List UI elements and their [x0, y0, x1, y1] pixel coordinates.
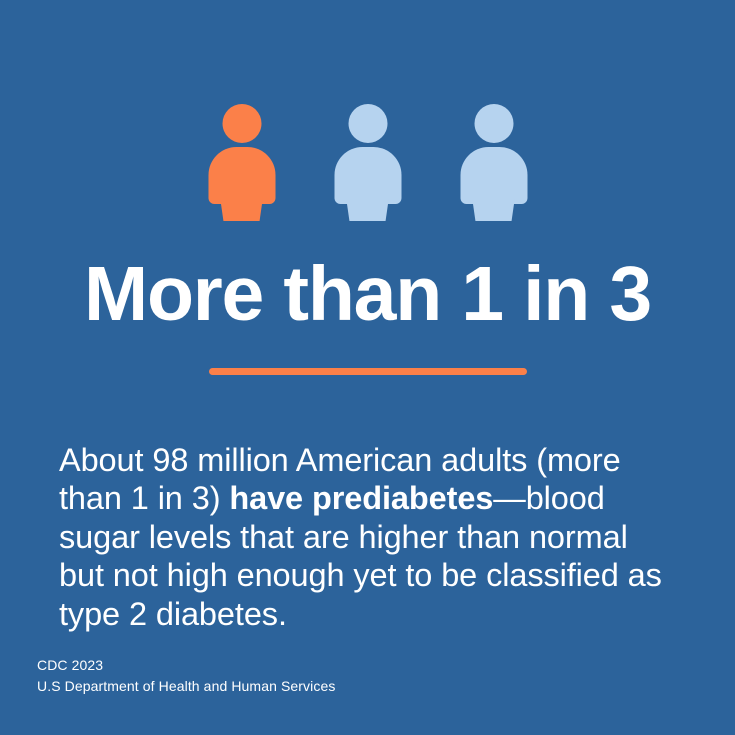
person-head-shape — [348, 104, 387, 143]
person-torso-shape — [460, 147, 527, 204]
person-icon-default-2 — [456, 104, 532, 221]
infographic-canvas: More than 1 in 3 About 98 million Americ… — [0, 0, 735, 735]
person-icon-default-1 — [330, 104, 406, 221]
person-head-shape — [474, 104, 513, 143]
headline: More than 1 in 3 — [0, 256, 735, 333]
footer-attribution: CDC 2023 U.S Department of Health and Hu… — [37, 655, 335, 697]
body-paragraph: About 98 million American adults (more t… — [59, 441, 679, 634]
person-legs-shape — [346, 197, 389, 221]
body-text-emphasis: have prediabetes — [229, 480, 493, 516]
person-legs-shape — [220, 197, 263, 221]
pictogram-figure-group — [0, 104, 735, 224]
person-head-shape — [222, 104, 261, 143]
footer-source-line: CDC 2023 — [37, 655, 335, 676]
footer-agency-line: U.S Department of Health and Human Servi… — [37, 676, 335, 697]
person-torso-shape — [208, 147, 275, 204]
orange-divider-rule — [209, 368, 527, 375]
person-torso-shape — [334, 147, 401, 204]
person-legs-shape — [472, 197, 515, 221]
person-icon-highlighted — [204, 104, 280, 221]
divider-container — [0, 368, 735, 375]
